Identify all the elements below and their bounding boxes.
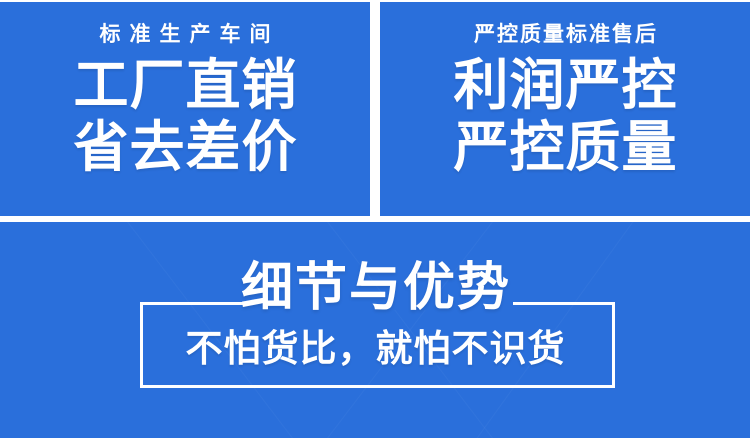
panel-eyebrow-text: 严控质量标准售后: [472, 24, 658, 45]
panel-headline-line1: 工厂直销: [72, 57, 297, 113]
panel-headline-line2: 省去差价: [72, 119, 297, 175]
feature-panel-content: 标准生产车间 工厂直销 省去差价: [0, 2, 370, 216]
feature-panel-factory-direct: 标准生产车间 工厂直销 省去差价: [0, 2, 370, 216]
section-header-banner: 细节与优势 不怕货比，就怕不识货: [0, 222, 750, 438]
section-title: 细节与优势: [0, 262, 750, 314]
feature-panel-quality-control: 严控质量标准售后 利润严控 严控质量: [380, 2, 750, 216]
panel-headline-line2: 严控质量: [452, 119, 677, 175]
section-subtitle: 不怕货比，就怕不识货: [0, 330, 750, 367]
panel-headline-line1: 利润严控: [452, 57, 677, 113]
panel-eyebrow-text: 标准生产车间: [91, 24, 280, 45]
feature-panel-content: 严控质量标准售后 利润严控 严控质量: [380, 2, 750, 216]
feature-panel-row: 标准生产车间 工厂直销 省去差价 严控质量标准售后 利润严控 严控质量: [0, 2, 750, 216]
promo-banner: 标准生产车间 工厂直销 省去差价 严控质量标准售后 利润严控 严控质量: [0, 0, 750, 440]
